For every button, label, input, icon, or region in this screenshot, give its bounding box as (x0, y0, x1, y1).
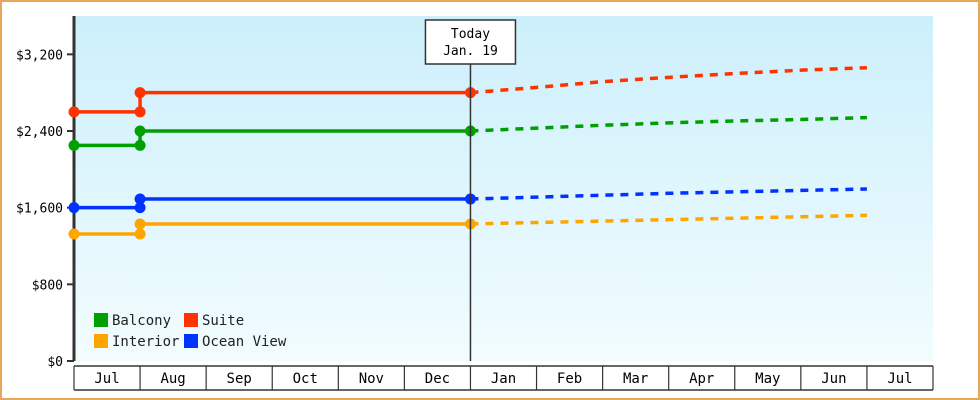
data-point-marker (69, 140, 80, 151)
x-tick-label-jun-11: Jun (821, 371, 846, 387)
y-tick-label: $1,600 (16, 202, 63, 217)
x-tick-label-dec-5: Dec (425, 371, 450, 387)
data-point-marker (135, 229, 146, 240)
data-point-marker (135, 218, 146, 229)
chart-root: $0$800$1,600$2,400$3,200 JulAugSepOctNov… (2, 2, 978, 398)
x-tick-label-mar-8: Mar (623, 371, 648, 387)
x-tick-label-sep-2: Sep (227, 371, 252, 387)
x-tick-label-nov-4: Nov (359, 371, 384, 387)
x-tick-label-may-10: May (755, 371, 780, 387)
data-point-marker (135, 126, 146, 137)
chart-canvas: $0$800$1,600$2,400$3,200 JulAugSepOctNov… (2, 2, 980, 400)
data-point-marker (135, 140, 146, 151)
legend-swatch (184, 313, 198, 327)
data-point-marker (69, 106, 80, 117)
legend-label: Suite (202, 313, 244, 329)
y-axis-ticks: $0$800$1,600$2,400$3,200 (16, 48, 74, 370)
legend-label: Interior (112, 334, 179, 350)
legend-item-balcony[interactable]: Balcony (94, 313, 171, 329)
legend-swatch (94, 334, 108, 348)
data-point-marker (135, 87, 146, 98)
legend-swatch (184, 334, 198, 348)
today-callout-line2: Jan. 19 (443, 44, 498, 59)
x-tick-label-apr-9: Apr (689, 371, 714, 387)
x-tick-label-jan-6: Jan (491, 371, 516, 387)
x-tick-label-aug-1: Aug (160, 371, 185, 387)
legend-swatch (94, 313, 108, 327)
legend-item-interior[interactable]: Interior (94, 334, 179, 350)
data-point-marker (135, 194, 146, 205)
data-point-marker (135, 106, 146, 117)
price-forecast-chart-window: $0$800$1,600$2,400$3,200 JulAugSepOctNov… (0, 0, 980, 400)
x-tick-label-jul-12: Jul (887, 371, 912, 387)
x-tick-label-feb-7: Feb (557, 371, 582, 387)
legend-label: Ocean View (202, 334, 287, 350)
x-tick-label-jul-0: Jul (94, 371, 119, 387)
y-tick-label: $800 (32, 278, 63, 293)
data-point-marker (69, 202, 80, 213)
y-tick-label: $3,200 (16, 48, 63, 63)
y-tick-label: $0 (47, 355, 63, 370)
plot-background (74, 16, 933, 361)
data-point-marker (69, 229, 80, 240)
y-tick-label: $2,400 (16, 125, 63, 140)
today-callout-line1: Today (451, 27, 490, 42)
x-axis-label-row: JulAugSepOctNovDecJanFebMarAprMayJunJul (74, 366, 933, 390)
legend-label: Balcony (112, 313, 171, 329)
legend-item-suite[interactable]: Suite (184, 313, 244, 329)
x-tick-label-oct-3: Oct (293, 371, 318, 387)
